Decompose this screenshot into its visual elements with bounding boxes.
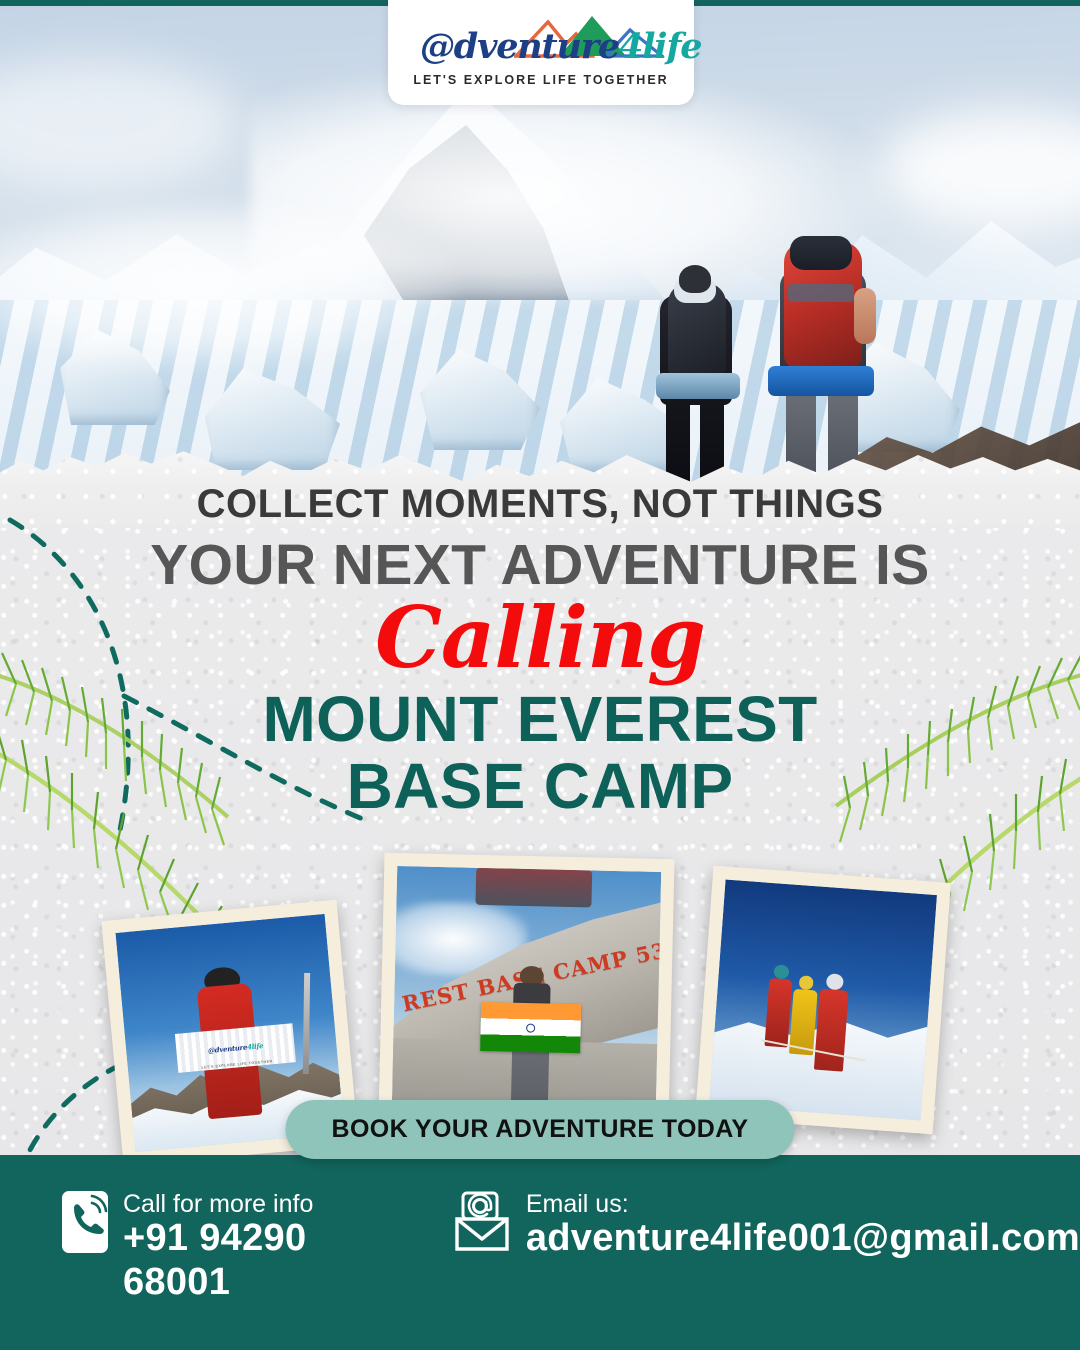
destination-line2: BASE CAMP xyxy=(0,753,1080,820)
photo1-banner-word2: 4life xyxy=(247,1041,264,1051)
logo-word-part2: 4life xyxy=(619,26,701,67)
email-text-group: Email us: adventure4life001@gmail.com xyxy=(526,1191,1080,1261)
trekker-right-pack-strap xyxy=(788,284,854,302)
email-envelope-icon xyxy=(453,1191,511,1258)
photo1-banner-word1: @dventure xyxy=(208,1042,248,1055)
headline-script: Calling xyxy=(0,588,1080,687)
low-cloud xyxy=(0,200,460,370)
photo1-banner-text: @dventure4life xyxy=(208,1041,264,1055)
logo-wordmark-row: @dventure4life xyxy=(416,18,666,70)
headline-kicker: COLLECT MOMENTS, NOT THINGS xyxy=(0,482,1080,527)
photo-glacier-team-image xyxy=(709,880,937,1121)
phone-label: Call for more info xyxy=(123,1191,357,1217)
logo-wordmark: @dventure4life xyxy=(420,26,701,67)
phone-number: +91 94290 68001 xyxy=(123,1217,357,1304)
contact-row: Call for more info +91 94290 68001 Email… xyxy=(0,1191,1080,1305)
photo2-indian-flag xyxy=(480,1002,581,1053)
phone-call-icon xyxy=(62,1191,108,1258)
email-contact[interactable]: Email us: adventure4life001@gmail.com xyxy=(453,1191,1080,1261)
trekker-right xyxy=(768,226,878,500)
phone-text-group: Call for more info +91 94290 68001 xyxy=(123,1191,357,1305)
photo2-ashoka-chakra xyxy=(526,1023,535,1032)
logo-word-part1: @dventure xyxy=(420,26,619,67)
footer-band: BOOK YOUR ADVENTURE TODAY Call for more … xyxy=(0,1155,1080,1350)
phone-contact[interactable]: Call for more info +91 94290 68001 xyxy=(62,1191,357,1305)
headline-destination: MOUNT EVEREST BASE CAMP xyxy=(0,686,1080,820)
trekker-left-sleeping-mat xyxy=(656,373,740,399)
trekker-left-head xyxy=(679,265,711,293)
brand-logo[interactable]: @dventure4life LET'S EXPLORE LIFE TOGETH… xyxy=(388,0,694,105)
trekker-right-sleeping-mat xyxy=(768,366,874,396)
email-address: adventure4life001@gmail.com xyxy=(526,1217,1080,1261)
photo2-people-on-rock xyxy=(476,868,593,908)
poster-canvas: @dventure4life LET'S EXPLORE LIFE TOGETH… xyxy=(0,0,1080,1350)
photo1-summit-pole xyxy=(302,973,310,1074)
email-label: Email us: xyxy=(526,1191,1080,1217)
destination-line1: MOUNT EVEREST xyxy=(0,686,1080,753)
trekker-right-arm xyxy=(854,288,876,344)
logo-tagline: LET'S EXPLORE LIFE TOGETHER xyxy=(413,73,668,87)
gallery-photo-3[interactable] xyxy=(695,866,951,1135)
trekker-right-pack-lid xyxy=(790,236,852,270)
trekker-left xyxy=(652,265,742,500)
book-adventure-button[interactable]: BOOK YOUR ADVENTURE TODAY xyxy=(285,1100,794,1159)
